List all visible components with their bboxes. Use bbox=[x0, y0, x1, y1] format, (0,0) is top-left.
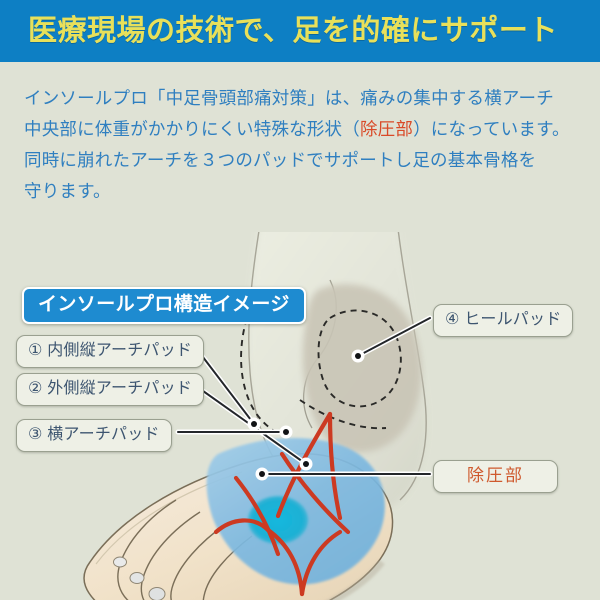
body-line-2-text-a: 中央部に体重がかかりにくい特殊な形状（ bbox=[24, 119, 360, 139]
body-line-4: 守ります。 bbox=[24, 176, 580, 207]
body-line-2-highlight: 除圧部 bbox=[360, 119, 413, 139]
callout-lateral-longitudinal-arch-pad[interactable]: ② 外側縦アーチパッド bbox=[16, 373, 204, 406]
body-description: インソールプロ「中足骨頭部痛対策」は、痛みの集中する横アーチ 中央部に体重がかか… bbox=[24, 83, 580, 207]
body-line-3-text: 同時に崩れたアーチを３つのパッドでサポートし足の基本骨格を bbox=[24, 150, 536, 170]
body-line-4-text: 守ります。 bbox=[24, 181, 111, 201]
body-line-1: インソールプロ「中足骨頭部痛対策」は、痛みの集中する横アーチ bbox=[24, 83, 580, 114]
body-line-2: 中央部に体重がかかりにくい特殊な形状（除圧部）になっています。 bbox=[24, 114, 580, 145]
body-line-1-text: インソールプロ「中足骨頭部痛対策」は、痛みの集中する横アーチ bbox=[24, 88, 554, 108]
structure-diagram: インソールプロ構造イメージ ① 内側縦アーチパッド ② 外側縦アーチパッド ③ … bbox=[0, 232, 600, 600]
callout-transverse-arch-pad[interactable]: ③ 横アーチパッド bbox=[16, 419, 172, 452]
body-line-3: 同時に崩れたアーチを３つのパッドでサポートし足の基本骨格を bbox=[24, 145, 580, 176]
callout-heel-pad[interactable]: ④ ヒールパッド bbox=[433, 304, 573, 337]
product-infographic: 医療現場の技術で、足を的確にサポート インソールプロ「中足骨頭部痛対策」は、痛み… bbox=[0, 0, 600, 600]
callout-pressure-relief-zone[interactable]: 除圧部 bbox=[433, 460, 558, 493]
body-line-2-text-b: ）になっています。 bbox=[413, 119, 570, 139]
header-banner: 医療現場の技術で、足を的確にサポート bbox=[0, 0, 600, 62]
page-title: 医療現場の技術で、足を的確にサポート bbox=[28, 11, 558, 51]
callout-medial-longitudinal-arch-pad[interactable]: ① 内側縦アーチパッド bbox=[16, 335, 204, 368]
diagram-title-chip: インソールプロ構造イメージ bbox=[22, 287, 306, 324]
